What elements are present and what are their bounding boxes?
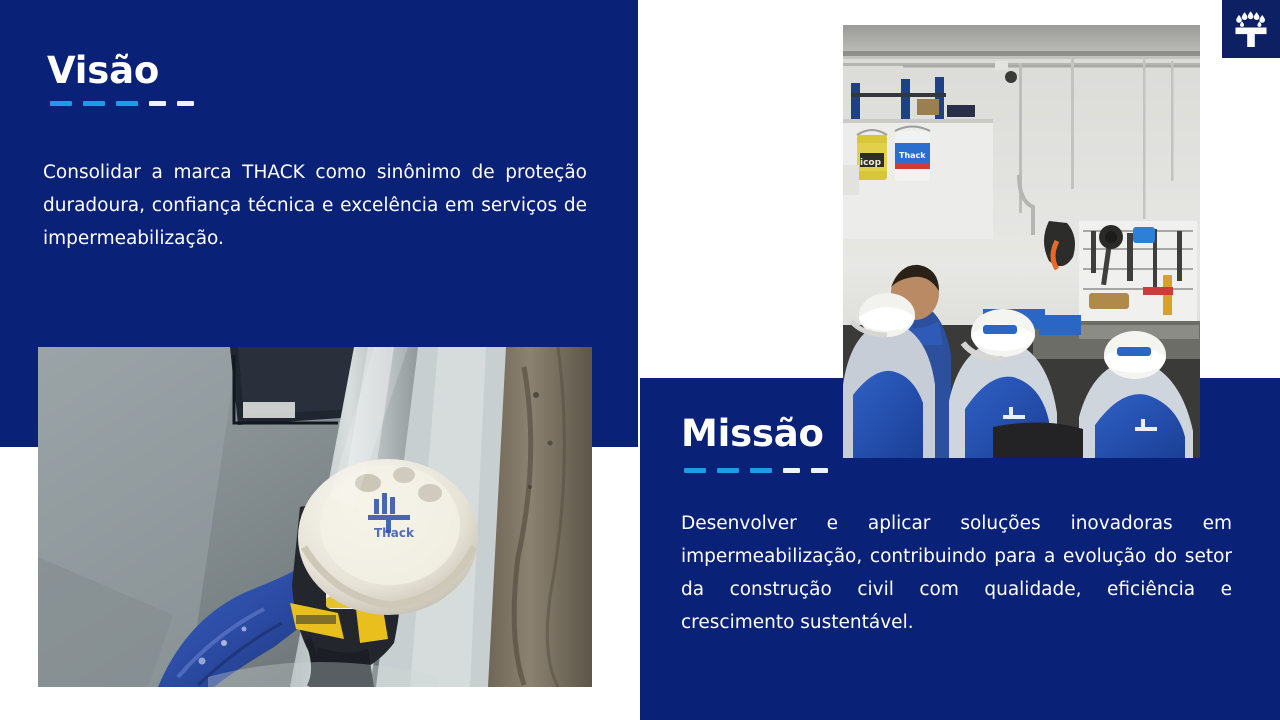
slide-canvas: Visão Consolidar a marca THACK como sinô…: [0, 0, 1280, 720]
svg-text:Thack: Thack: [374, 526, 415, 540]
svg-text:Thack: Thack: [899, 151, 926, 160]
duct-photo-artwork: Thack: [38, 347, 592, 687]
vision-body-text: Consolidar a marca THACK como sinônimo d…: [43, 156, 587, 255]
letter-t-icon: [1236, 28, 1267, 48]
photo-worker-in-duct: Thack: [38, 347, 592, 687]
divider-dash-4: [149, 101, 166, 106]
divider-dash-3: [116, 101, 138, 106]
svg-text:icop: icop: [860, 158, 882, 168]
workshop-photo-artwork: icop Thack: [843, 25, 1200, 458]
divider-dash-5: [811, 468, 828, 473]
divider-dash-1: [50, 101, 72, 106]
mission-body-text: Desenvolver e aplicar soluções inovadora…: [681, 507, 1232, 639]
mission-title: Missão: [681, 415, 824, 454]
thack-logo-glyph: [1231, 9, 1271, 49]
divider-dash-2: [83, 101, 105, 106]
divider-dash-3: [750, 468, 772, 473]
vision-title: Visão: [47, 52, 159, 91]
water-droplets-icon: [1236, 11, 1265, 27]
thack-logo[interactable]: [1222, 0, 1280, 58]
divider-dash-4: [783, 468, 800, 473]
mission-divider: [684, 468, 828, 473]
divider-dash-1: [684, 468, 706, 473]
photo-team-workshop: icop Thack: [843, 25, 1200, 458]
divider-dash-2: [717, 468, 739, 473]
divider-dash-5: [177, 101, 194, 106]
vision-divider: [50, 101, 194, 106]
